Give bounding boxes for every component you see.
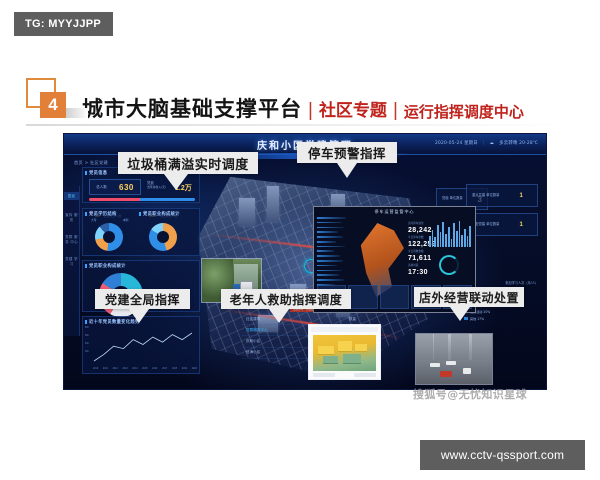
legend-item: 其他 17% [464, 316, 538, 321]
elder-map-toolbar [311, 327, 378, 332]
year-2: 2012 [113, 368, 118, 370]
callout-elder-rescue: 老年人救助指挥调度 [221, 289, 351, 309]
dashboard-date: 2020-05-24 星期日 [435, 140, 478, 146]
gender-ratio-bar [89, 198, 195, 201]
trend-ytick-1: 600 [85, 335, 89, 337]
metric-party-units-label: 党组 单位数量 [442, 197, 463, 201]
breadcrumb: 首页 > 社区党建 [74, 160, 108, 166]
col-header-count: 数量 [349, 317, 356, 322]
title-red-topic: 社区专题 [319, 103, 387, 120]
elder-map-canvas [313, 335, 376, 371]
edu-label-2: 本科 [123, 218, 129, 222]
panel-title-occupation: 党员职业构成统计 [83, 261, 199, 269]
parking-caption-2: 今日营收金额 [408, 249, 436, 253]
metric-key-units-label: 重点共建 单位数量 [472, 194, 499, 198]
page-root: TG: MYYJJPP 4 城市大脑基础支撑平台 | 社区专题 | 运行指挥调度… [0, 0, 600, 480]
callout-global-party-command: 党建全局指挥 [95, 289, 190, 309]
title-red-center: 运行指挥调度中心 [404, 105, 524, 120]
page-title: 4 城市大脑基础支撑平台 | 社区专题 | 运行指挥调度中心 [26, 78, 524, 120]
trend-ytick-2: 400 [85, 343, 89, 345]
year-10: 2020 [192, 368, 197, 370]
parking-value-2: 71,611 [408, 255, 436, 262]
cloud-icon: ☁ [490, 141, 495, 146]
parking-caption-3: 高峰时段 [408, 263, 436, 267]
callout-parking-command: 停车预警指挥 [297, 142, 397, 163]
panel-education-structure: 党员学历结构 大专 本科 党员职业构成统计 [82, 208, 200, 256]
callout-trash-label: 垃圾桶满溢实时调度 [127, 154, 249, 173]
inset-elder-map [308, 324, 381, 380]
year-5: 2015 [142, 368, 147, 370]
callout-shop-operation: 店外经营联动处置 [414, 287, 524, 307]
stat-total-members: 总人数 630 [89, 179, 141, 195]
year-8: 2018 [172, 368, 177, 370]
sidebar-item-publicity[interactable]: 宣传 服务 [64, 213, 79, 222]
sidebar-item-residents[interactable]: 居民 [64, 192, 79, 200]
parking-value-3: 17:30 [408, 269, 436, 276]
badge-shadow [66, 108, 88, 118]
year-6: 2016 [152, 368, 157, 370]
callout-shop-label: 店外经营联动处置 [419, 289, 519, 306]
tg-tag: TG: MYYJJPP [14, 12, 113, 36]
sidebar-item-party-center[interactable]: 党群 服务 中心 [64, 235, 79, 244]
education-donut-chart [95, 223, 123, 251]
title-main-text: 城市大脑基础支撑平台 [82, 99, 302, 120]
occupation-donut-chart [149, 223, 177, 251]
section-badge: 4 [26, 78, 72, 120]
badge-number: 4 [40, 92, 66, 118]
year-4: 2014 [132, 368, 137, 370]
title-separator-2: | [393, 101, 398, 120]
dashboard-sidebar: 居民 宣传 服务 党群 服务 中心 党建 学习 [64, 186, 80, 336]
watermark: 搜狐号@无忧知识星球 [413, 386, 527, 402]
callout-park-label: 停车预警指挥 [308, 143, 386, 162]
parking-histogram [429, 219, 471, 247]
row-name-2: 信海小区 [246, 350, 260, 355]
callout-elder-label: 老年人救助指挥调度 [230, 291, 343, 308]
inset-shop-camera [415, 333, 493, 385]
trend-year-axis: 2010 2011 2012 2013 2014 2015 2016 2017 … [93, 368, 197, 370]
metric-new-units: 新型党建 单位数量 1 [466, 213, 538, 236]
trend-ytick-0: 800 [85, 327, 89, 329]
elder-map-footer [313, 373, 376, 377]
metric-new-units-value: 1 [519, 222, 522, 228]
callout-tail [164, 174, 188, 190]
stat-total-value: 630 [119, 183, 134, 192]
trend-ytick-3: 200 [85, 351, 89, 353]
stat-total-label: 总人数 [96, 185, 107, 190]
callout-global-label: 党建全局指挥 [105, 291, 180, 308]
callout-tail [129, 309, 149, 323]
panel-title-education-2: 党员职业构成统计 [137, 209, 180, 217]
meta-divider: | [483, 141, 485, 146]
parking-gauge-chart [439, 255, 459, 275]
callout-tail [269, 309, 289, 323]
metric-key-units: 重点共建 单位数量 1 [466, 184, 538, 207]
year-1: 2011 [103, 368, 108, 370]
year-0: 2010 [93, 368, 98, 370]
callout-tail [337, 163, 357, 178]
dashboard-weather: 多云转晴 20-28℃ [499, 140, 538, 146]
callout-tail [450, 307, 470, 321]
dashboard-meta: 2020-05-24 星期日 | ☁ 多云转晴 20-28℃ [435, 140, 538, 146]
year-7: 2017 [162, 368, 167, 370]
edu-label-1: 大专 [91, 218, 97, 222]
legend-label-4: 其他 17% [470, 316, 484, 321]
title-separator-1: | [308, 101, 313, 120]
callout-trash-dispatch: 垃圾桶满溢实时调度 [118, 152, 258, 174]
year-3: 2013 [123, 368, 128, 370]
parking-dashboard-title: 停车运营监管中心 [375, 209, 415, 215]
year-9: 2019 [182, 368, 187, 370]
metric-key-units-value: 1 [519, 193, 522, 199]
col-header-building: 社区建筑 [246, 317, 260, 322]
row-name-0: 党群服务中心 [246, 328, 268, 333]
sidebar-item-party-study[interactable]: 党建 学习 [64, 257, 79, 266]
legend-caption: 参加学习人次（月/人） [505, 280, 538, 285]
row-name-1: 庆和小区 [246, 339, 260, 344]
panel-member-trend: 近十年党员数量变化趋势 800 600 400 200 2010 2011 20… [82, 316, 200, 374]
title-underline [26, 124, 574, 126]
metric-new-units-label: 新型党建 单位数量 [472, 223, 499, 227]
trend-line-chart [91, 330, 195, 364]
footer-url-bar: www.cctv-qssport.com [420, 440, 585, 470]
